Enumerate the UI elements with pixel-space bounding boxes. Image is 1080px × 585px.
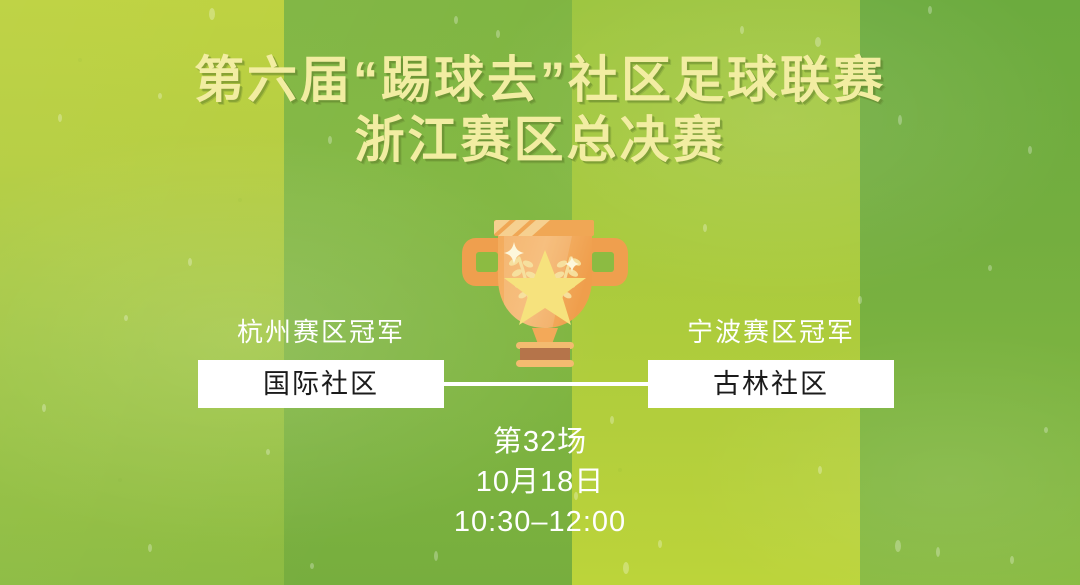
match-info: 第32场 10月18日 10:30–12:00 [0,422,1080,542]
poster-title: 第六届“踢球去”社区足球联赛 浙江赛区总决赛 [0,52,1080,168]
right-qualifier-label: 宁波赛区冠军 [648,316,894,348]
right-team-name: 古林社区 [713,369,829,399]
trophy-base [516,342,574,367]
match-poster: 第六届“踢球去”社区足球联赛 浙江赛区总决赛 [0,0,1080,585]
trophy-rim [478,220,594,236]
match-date: 10月18日 [0,462,1080,502]
left-team-name: 国际社区 [263,369,379,399]
left-team-box[interactable]: 国际社区 [198,360,444,408]
trophy-stem [532,328,558,344]
matchup-connector-line [444,382,648,386]
trophy-icon [452,212,638,368]
poster-title-line-2: 浙江赛区总决赛 [0,112,1080,168]
match-time: 10:30–12:00 [0,502,1080,542]
right-team-box[interactable]: 古林社区 [648,360,894,408]
left-qualifier-label: 杭州赛区冠军 [198,316,444,348]
poster-title-line-1: 第六届“踢球去”社区足球联赛 [0,52,1080,108]
match-round: 第32场 [0,422,1080,462]
